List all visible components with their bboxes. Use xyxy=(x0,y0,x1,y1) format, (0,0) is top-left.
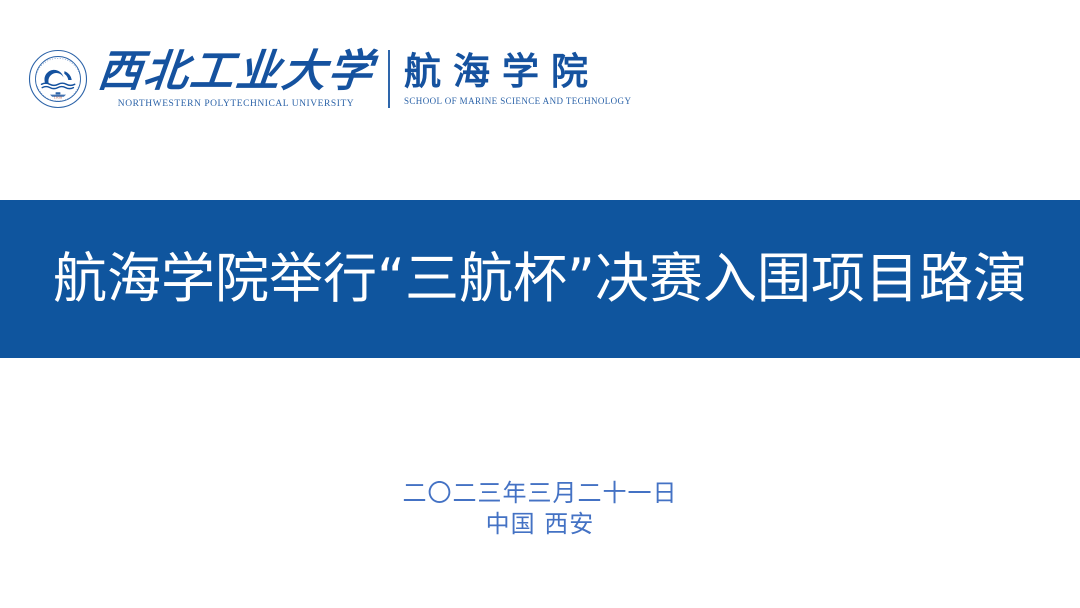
university-name-cn: 西北工业大学 xyxy=(96,49,377,95)
slide-title: 航海学院举行“三航杯”决赛入围项目路演 xyxy=(53,252,1027,306)
svg-text:1938: 1938 xyxy=(54,96,62,100)
school-wordmark: 航海学院 SCHOOL OF MARINE SCIENCE AND TECHNO… xyxy=(404,52,643,107)
university-name-en: NORTHWESTERN POLYTECHNICAL UNIVERSITY xyxy=(98,99,374,109)
event-date: 二〇二三年三月二十一日 xyxy=(0,478,1080,509)
nwpu-seal-icon: 1938 xyxy=(28,49,88,109)
school-name-cn: 航海学院 xyxy=(404,52,643,93)
footer-block: 二〇二三年三月二十一日 中国 西安 xyxy=(0,478,1080,539)
event-place: 中国 西安 xyxy=(0,509,1080,540)
school-name-en: SCHOOL OF MARINE SCIENCE AND TECHNOLOGY xyxy=(404,96,643,106)
university-wordmark: 西北工业大学 NORTHWESTERN POLYTECHNICAL UNIVER… xyxy=(98,49,374,108)
title-banner: 航海学院举行“三航杯”决赛入围项目路演 xyxy=(0,200,1080,358)
institution-logo-lockup: 1938 西北工业大学 NORTHWESTERN POLYTECHNICAL U… xyxy=(28,38,643,120)
logo-divider xyxy=(388,50,390,108)
title-slide: 1938 西北工业大学 NORTHWESTERN POLYTECHNICAL U… xyxy=(0,0,1080,608)
